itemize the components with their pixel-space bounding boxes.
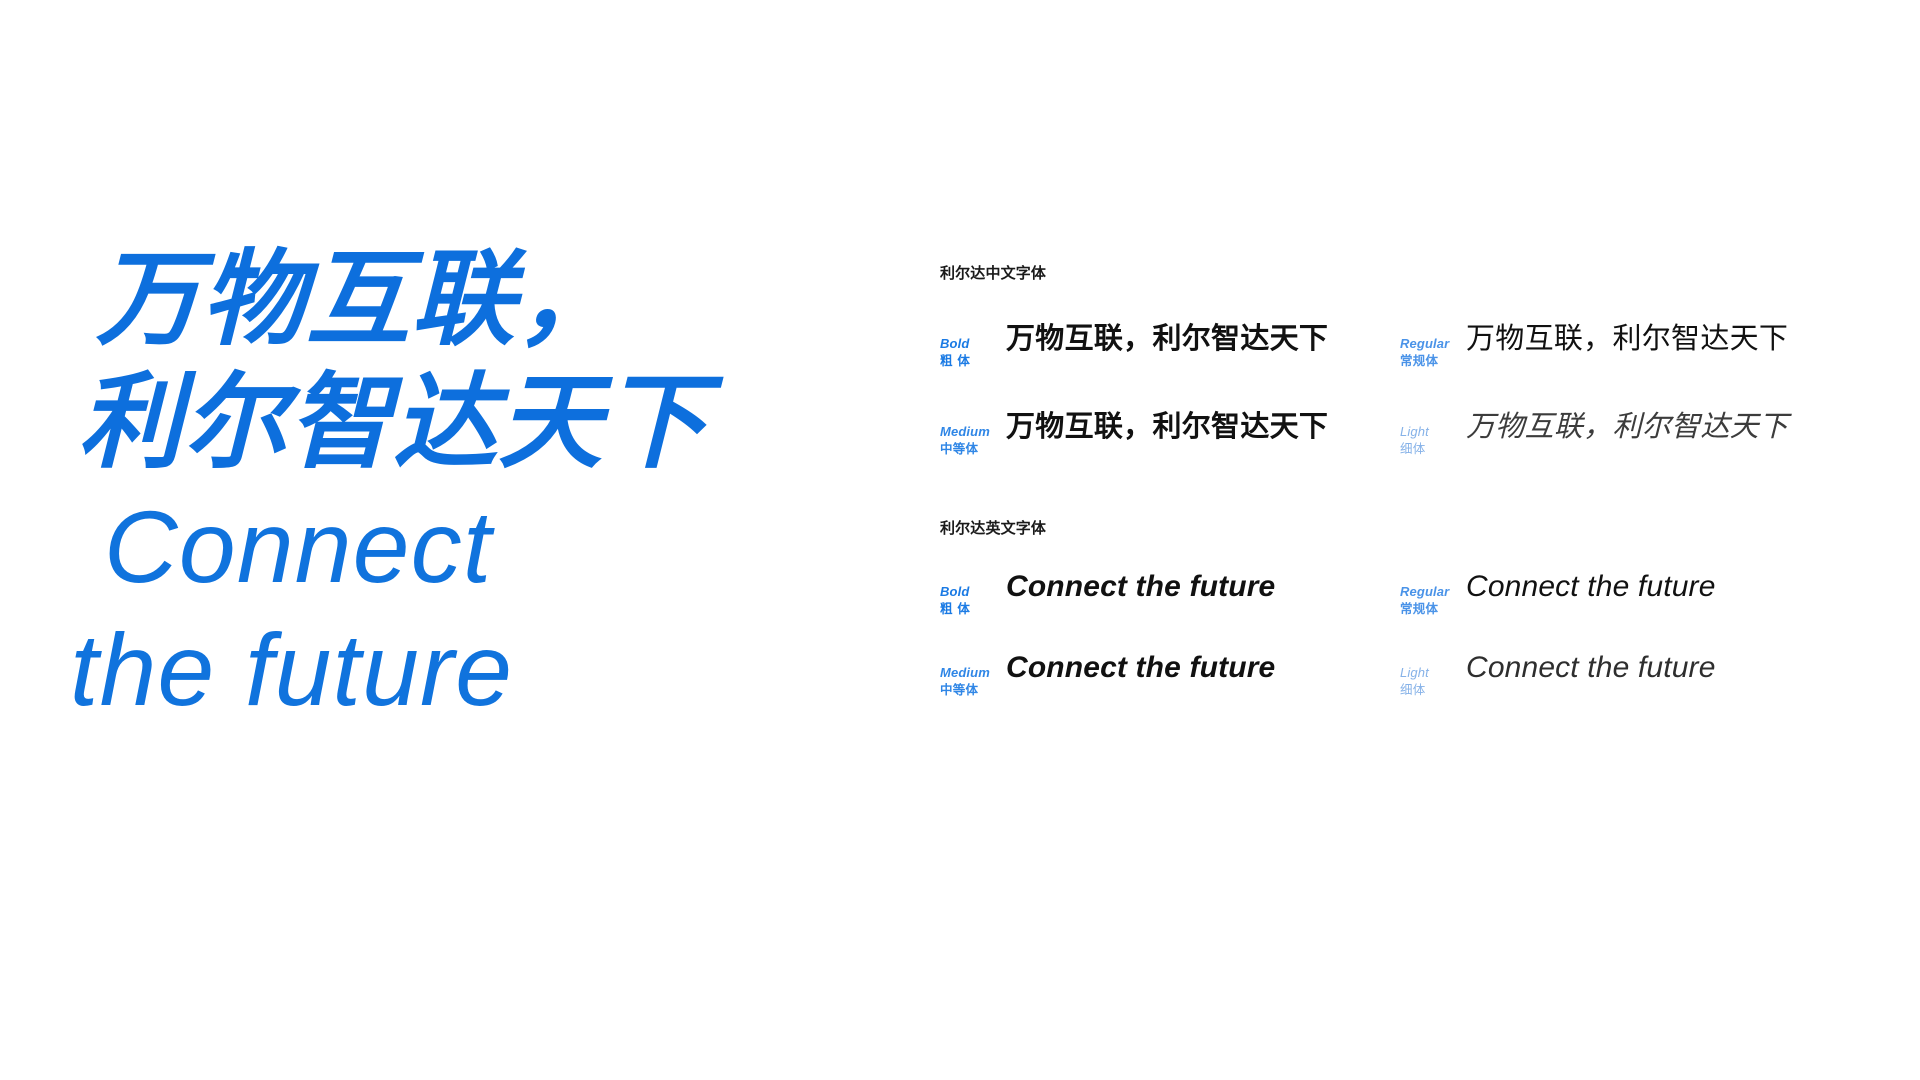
specimen-cell-light: Light 细体 万物互联，利尔智达天下 [1400, 403, 1870, 457]
hero-english-line-1: Connect [104, 489, 856, 605]
weight-label-cn: 常规体 [1400, 601, 1466, 617]
specimen-cell-regular: Regular 常规体 万物互联，利尔智达天下 [1400, 315, 1870, 369]
specimen-board: 万物互联， 利尔智达天下 Connect the future 利尔达中文字体 … [0, 0, 1920, 1080]
section-english-typeface: 利尔达英文字体 Bold 粗 体 Connect the future Regu… [940, 517, 1870, 698]
weight-label-medium: Medium 中等体 [940, 420, 1006, 457]
weight-label-cn: 中等体 [940, 682, 1006, 698]
specimen-cell-bold: Bold 粗 体 Connect the future [940, 570, 1400, 617]
weight-rows-english: Bold 粗 体 Connect the future Regular 常规体 … [940, 570, 1870, 698]
specimen-sample-text: Connect the future [1006, 651, 1400, 685]
weight-label-cn: 细体 [1400, 441, 1466, 457]
weight-label-en: Light [1400, 665, 1466, 681]
specimen-sample-text: 万物互联，利尔智达天下 [1466, 315, 1870, 357]
weight-label-cn: 常规体 [1400, 353, 1466, 369]
specimen-sample-text: Connect the future [1006, 570, 1400, 604]
specimen-cell-bold: Bold 粗 体 万物互联，利尔智达天下 [940, 315, 1400, 369]
specimen-sample-text: Connect the future [1466, 570, 1870, 604]
specimen-cell-regular: Regular 常规体 Connect the future [1400, 570, 1870, 617]
weight-label-cn: 中等体 [940, 441, 1006, 457]
weight-label-en: Light [1400, 424, 1466, 440]
section-chinese-typeface: 利尔达中文字体 Bold 粗 体 万物互联，利尔智达天下 Regular 常规体 [940, 262, 1870, 457]
hero-english-line-2: the future [70, 612, 856, 728]
section-title-english: 利尔达英文字体 [940, 517, 1870, 538]
weight-label-en: Regular [1400, 584, 1466, 600]
specimen-cell-medium: Medium 中等体 Connect the future [940, 651, 1400, 698]
weight-label-bold: Bold 粗 体 [940, 580, 1006, 617]
weight-label-cn: 粗 体 [940, 601, 1006, 617]
specimen-sample-text: 万物互联，利尔智达天下 [1006, 403, 1400, 445]
weight-label-bold: Bold 粗 体 [940, 332, 1006, 369]
specimen-panel: 利尔达中文字体 Bold 粗 体 万物互联，利尔智达天下 Regular 常规体 [940, 262, 1870, 698]
weight-label-cn: 细体 [1400, 682, 1466, 698]
weight-row: Medium 中等体 Connect the future Light 细体 C… [940, 651, 1870, 698]
specimen-sample-text: 万物互联，利尔智达天下 [1006, 315, 1400, 357]
hero-chinese-line-2: 利尔智达天下 [78, 361, 856, 484]
hero-lockup: 万物互联， 利尔智达天下 Connect the future [96, 238, 856, 728]
weight-label-en: Bold [940, 584, 1006, 600]
weight-label-regular: Regular 常规体 [1400, 332, 1466, 369]
weight-row: Bold 粗 体 万物互联，利尔智达天下 Regular 常规体 万物互联，利尔… [940, 315, 1870, 369]
weight-label-en: Bold [940, 336, 1006, 352]
weight-row: Medium 中等体 万物互联，利尔智达天下 Light 细体 万物互联，利尔智… [940, 403, 1870, 457]
hero-chinese-line-1: 万物互联， [96, 238, 856, 361]
weight-label-en: Medium [940, 424, 1006, 440]
weight-label-en: Medium [940, 665, 1006, 681]
specimen-cell-medium: Medium 中等体 万物互联，利尔智达天下 [940, 403, 1400, 457]
weight-label-regular: Regular 常规体 [1400, 580, 1466, 617]
specimen-sample-text: 万物互联，利尔智达天下 [1466, 403, 1870, 445]
weight-row: Bold 粗 体 Connect the future Regular 常规体 … [940, 570, 1870, 617]
weight-label-medium: Medium 中等体 [940, 661, 1006, 698]
weight-rows-chinese: Bold 粗 体 万物互联，利尔智达天下 Regular 常规体 万物互联，利尔… [940, 315, 1870, 457]
weight-label-en: Regular [1400, 336, 1466, 352]
specimen-cell-light: Light 细体 Connect the future [1400, 651, 1870, 698]
section-title-chinese: 利尔达中文字体 [940, 262, 1870, 283]
weight-label-cn: 粗 体 [940, 353, 1006, 369]
weight-label-light: Light 细体 [1400, 661, 1466, 698]
weight-label-light: Light 细体 [1400, 420, 1466, 457]
specimen-sample-text: Connect the future [1466, 651, 1870, 685]
